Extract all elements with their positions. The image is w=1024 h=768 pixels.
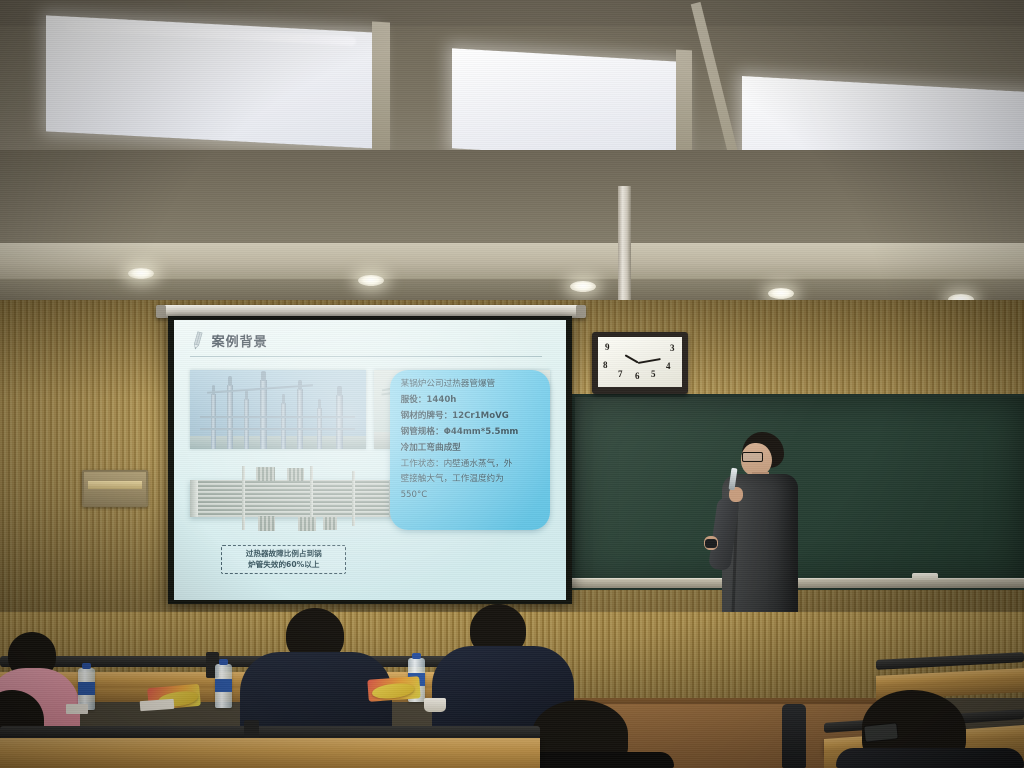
attendee-foreground-glasses-frames [863, 722, 899, 742]
photo-superheater-tube-bundle [190, 466, 398, 530]
downlight-4 [768, 288, 794, 299]
info-line: 冷加工弯曲成型 [401, 443, 542, 454]
bundle-support-bar [242, 466, 245, 530]
desk-row-foreground [0, 738, 540, 768]
pencil-icon [190, 330, 205, 352]
info-line: 某锅炉公司过热器管爆管 [401, 379, 542, 390]
wall-clock: 9 8 7 6 5 4 3 [592, 332, 688, 394]
tube-rows [190, 480, 398, 517]
downlight-1 [128, 268, 154, 279]
clock-number-6: 6 [635, 372, 640, 381]
downlight-2 [358, 275, 384, 286]
water-bottle-2[interactable] [215, 664, 232, 708]
ceiling-beam-vertical-1 [372, 22, 390, 163]
info-line: 钢材的牌号：12Cr1MoVG [401, 411, 542, 422]
photo-refinery-plant [190, 370, 366, 448]
attendee-foreground-glasses-body [836, 748, 1024, 768]
slide-title-divider [190, 356, 543, 357]
clock-hand-minute [625, 355, 639, 364]
plant-tower [211, 394, 216, 449]
plant-pipe [200, 428, 355, 430]
clock-number-9: 9 [605, 343, 610, 352]
roller-cap-right [576, 305, 586, 318]
slide-caption-box: 过热器故障比例占到锅 炉管失效的60%以上 [221, 545, 346, 574]
plant-tower [297, 389, 303, 449]
downlight-3 [570, 281, 596, 292]
presenter-glasses [742, 452, 763, 462]
projector-pole [618, 186, 631, 306]
tube-stub [323, 517, 338, 530]
bottle-label [78, 682, 95, 695]
lecture-hall-scene: 9 8 7 6 5 4 3 [0, 0, 1024, 768]
chalkboard [572, 394, 1024, 590]
presentation-slide: 案例背景 [174, 320, 566, 600]
clock-hand-hour [638, 358, 661, 364]
clock-face: 9 8 7 6 5 4 3 [598, 337, 682, 387]
ceiling-light-panel-1 [46, 15, 376, 148]
chalkboard-eraser[interactable] [912, 573, 938, 580]
plant-tower [281, 403, 286, 448]
info-line: 工作状态：内壁通水蒸气，外 [401, 459, 542, 470]
info-line: 550°C [401, 490, 542, 501]
clock-number-8: 8 [603, 361, 608, 370]
chalkboard-sheen [575, 397, 1024, 587]
cup-right[interactable] [424, 698, 446, 712]
plant-tower [336, 395, 343, 448]
presentation-clicker[interactable] [705, 539, 717, 548]
projection-screen-frame: 案例背景 [168, 316, 572, 604]
tube-end-cap-left [190, 480, 198, 517]
bottle-cap [82, 663, 92, 669]
info-line: 服役：1440h [401, 395, 542, 406]
roller-cap-left [156, 305, 166, 318]
plant-tower [260, 380, 267, 449]
clock-number-4: 4 [666, 362, 671, 371]
tube-stub [287, 468, 304, 481]
caption-line-1: 过热器故障比例占到锅 [227, 549, 340, 559]
clock-number-7: 7 [618, 370, 623, 379]
ceiling-recess-shadow [0, 150, 1024, 250]
tube-stub [298, 517, 317, 531]
slide-header: 案例背景 [190, 330, 268, 352]
caption-line-2: 炉管失效的60%以上 [227, 560, 340, 570]
projection-screen[interactable]: 案例背景 [174, 320, 566, 600]
clock-number-5: 5 [651, 370, 656, 379]
paper-sheet-right[interactable] [66, 704, 88, 714]
clock-number-3: 3 [670, 344, 675, 353]
bottle-cap [219, 659, 229, 665]
slide-title: 案例背景 [212, 331, 268, 350]
info-line: 钢管规格：Φ44mm*5.5mm [401, 427, 542, 438]
tube-stub [256, 467, 275, 481]
plant-pipe [200, 416, 355, 418]
ceiling-light-panel-2 [452, 48, 680, 162]
paper-sheet-left[interactable] [140, 699, 175, 711]
slide-info-box: 某锅炉公司过热器管爆管 服役：1440h 钢材的牌号：12Cr1MoVG 钢管规… [390, 370, 551, 530]
info-line: 壁接触大气，工作温度约为 [401, 474, 542, 485]
tube-stub [258, 516, 275, 531]
wall-mounted-box [82, 470, 148, 507]
chair-back-right [782, 704, 806, 768]
plant-tower [244, 399, 249, 449]
bottle-cap [412, 653, 422, 659]
bottle-label [215, 679, 232, 692]
chalk-tray [572, 578, 1024, 588]
bundle-support-bar [352, 471, 355, 526]
